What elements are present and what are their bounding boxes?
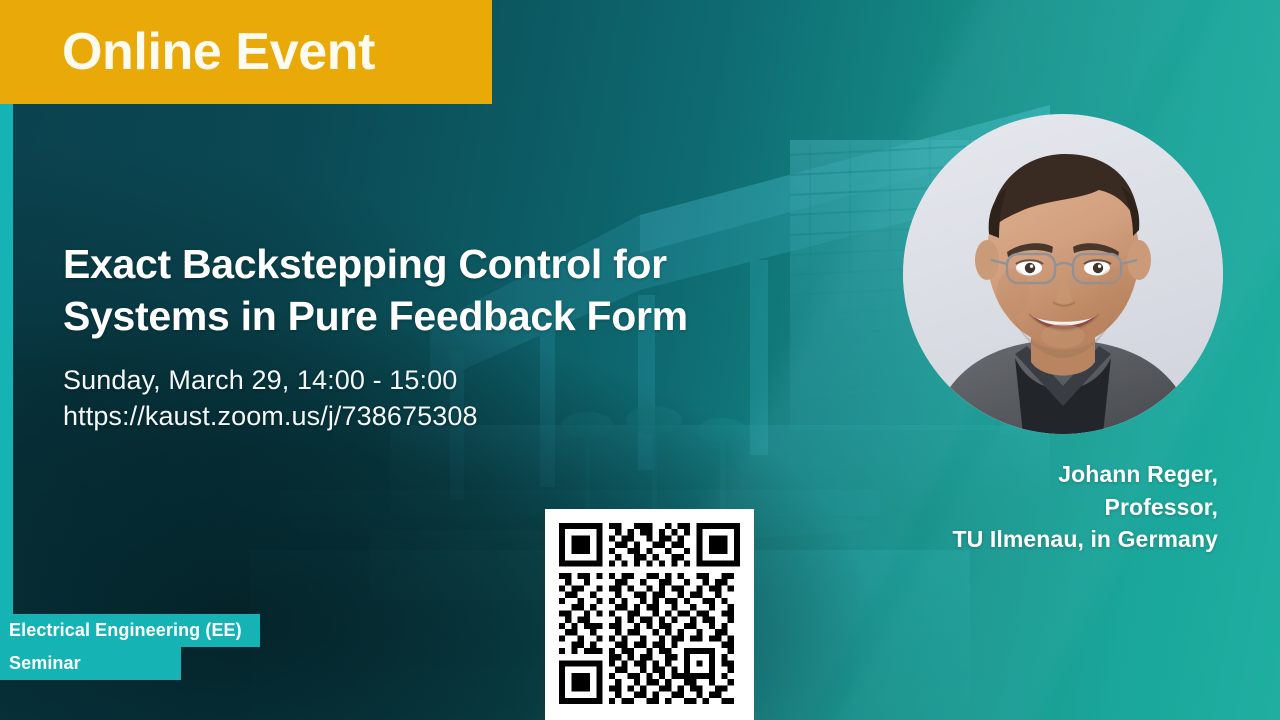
left-accent-rail — [0, 104, 13, 680]
speaker-role: Professor, — [953, 491, 1219, 524]
qr-code[interactable] — [545, 509, 754, 720]
speaker-name: Johann Reger, — [953, 458, 1219, 491]
speaker-affiliation: TU Ilmenau, in Germany — [953, 523, 1219, 556]
speaker-info: Johann Reger, Professor, TU Ilmenau, in … — [953, 458, 1219, 556]
event-datetime: Sunday, March 29, 14:00 - 15:00 — [63, 363, 823, 399]
tag-type: Seminar — [0, 647, 181, 680]
title-line-1: Exact Backstepping Control for — [63, 238, 823, 290]
page-title: Exact Backstepping Control for Systems i… — [63, 238, 823, 343]
online-event-banner: Online Event — [0, 0, 492, 104]
event-poster: Online Event Exact Backstepping Control … — [0, 0, 1280, 720]
event-text-block: Exact Backstepping Control for Systems i… — [63, 238, 823, 435]
speaker-portrait — [903, 114, 1223, 434]
banner-label: Online Event — [0, 26, 375, 78]
title-line-2: Systems in Pure Feedback Form — [63, 290, 823, 342]
event-details: Sunday, March 29, 14:00 - 15:00 https://… — [63, 363, 823, 435]
category-tags: Electrical Engineering (EE) Seminar — [0, 614, 260, 680]
event-zoom-link[interactable]: https://kaust.zoom.us/j/738675308 — [63, 399, 823, 435]
tag-department: Electrical Engineering (EE) — [0, 614, 260, 647]
